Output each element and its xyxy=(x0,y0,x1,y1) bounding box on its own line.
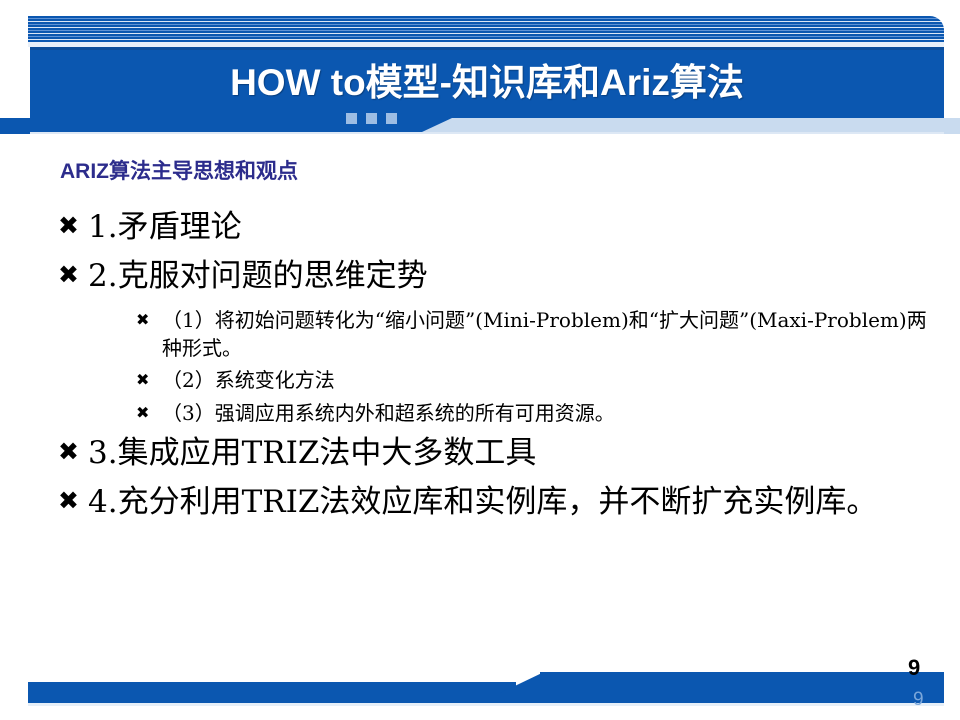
footer-baseline xyxy=(28,703,944,706)
decor-square-icon xyxy=(386,113,397,124)
sub-bullet-text: （3）强调应用系统内外和超系统的所有可用资源。 xyxy=(136,399,928,427)
bullet-item: ✖ 2.克服对问题的思维定势 xyxy=(58,256,928,296)
sub-bullet-text: （1）将初始问题转化为“缩小问题”(Mini-Problem)和“扩大问题”(M… xyxy=(136,306,928,363)
bullet-text: 4.充分利用TRIZ法效应库和实例库，并不断扩充实例库。 xyxy=(88,482,928,522)
bullet-cross-icon: ✖ xyxy=(58,207,88,244)
decor-square-icon xyxy=(366,113,377,124)
bullet-cross-icon: ✖ xyxy=(58,256,88,293)
sub-bullet-cross-icon: ✖ xyxy=(58,366,136,394)
bullet-text: 1.矛盾理论 xyxy=(88,207,928,247)
bullet-cross-icon: ✖ xyxy=(58,482,88,519)
bullet-text: 3.集成应用TRIZ法中大多数工具 xyxy=(88,433,928,473)
slide: HOW to模型-知识库和Ariz算法 ARIZ算法主导思想和观点 ✖ 1.矛盾… xyxy=(0,0,960,720)
sub-bullet-cross-icon: ✖ xyxy=(58,399,136,427)
header-stripe-ribbon xyxy=(28,16,944,42)
footer-bar-right xyxy=(540,672,944,703)
header-stripe-mask xyxy=(28,16,944,42)
sub-bullet-item: ✖ （1）将初始问题转化为“缩小问题”(Mini-Problem)和“扩大问题”… xyxy=(58,306,928,363)
slide-header: HOW to模型-知识库和Ariz算法 xyxy=(0,0,960,134)
bullet-item: ✖ 4.充分利用TRIZ法效应库和实例库，并不断扩充实例库。 xyxy=(58,482,928,522)
header-bottom-strip xyxy=(0,118,960,134)
bullet-item: ✖ 1.矛盾理论 xyxy=(58,207,928,247)
section-subtitle: ARIZ算法主导思想和观点 xyxy=(60,155,298,185)
slide-body: ✖ 1.矛盾理论 ✖ 2.克服对问题的思维定势 ✖ （1）将初始问题转化为“缩小… xyxy=(58,207,928,532)
page-number-secondary: 9 xyxy=(913,689,924,711)
slide-title: HOW to模型-知识库和Ariz算法 xyxy=(30,47,944,118)
page-number: 9 xyxy=(908,655,920,681)
sub-bullet-item: ✖ （3）强调应用系统内外和超系统的所有可用资源。 xyxy=(58,399,928,427)
sub-bullet-list: ✖ （1）将初始问题转化为“缩小问题”(Mini-Problem)和“扩大问题”… xyxy=(58,306,928,428)
bullet-text: 2.克服对问题的思维定势 xyxy=(88,256,928,296)
footer-bar-left xyxy=(28,682,516,703)
sub-bullet-text: （2）系统变化方法 xyxy=(136,366,928,394)
header-underline xyxy=(30,132,944,134)
sub-bullet-item: ✖ （2）系统变化方法 xyxy=(58,366,928,394)
slide-footer xyxy=(0,667,960,709)
decor-square-icon xyxy=(346,113,357,124)
bullet-item: ✖ 3.集成应用TRIZ法中大多数工具 xyxy=(58,433,928,473)
sub-bullet-cross-icon: ✖ xyxy=(58,306,136,334)
header-decor-squares xyxy=(346,113,397,124)
bullet-cross-icon: ✖ xyxy=(58,433,88,470)
